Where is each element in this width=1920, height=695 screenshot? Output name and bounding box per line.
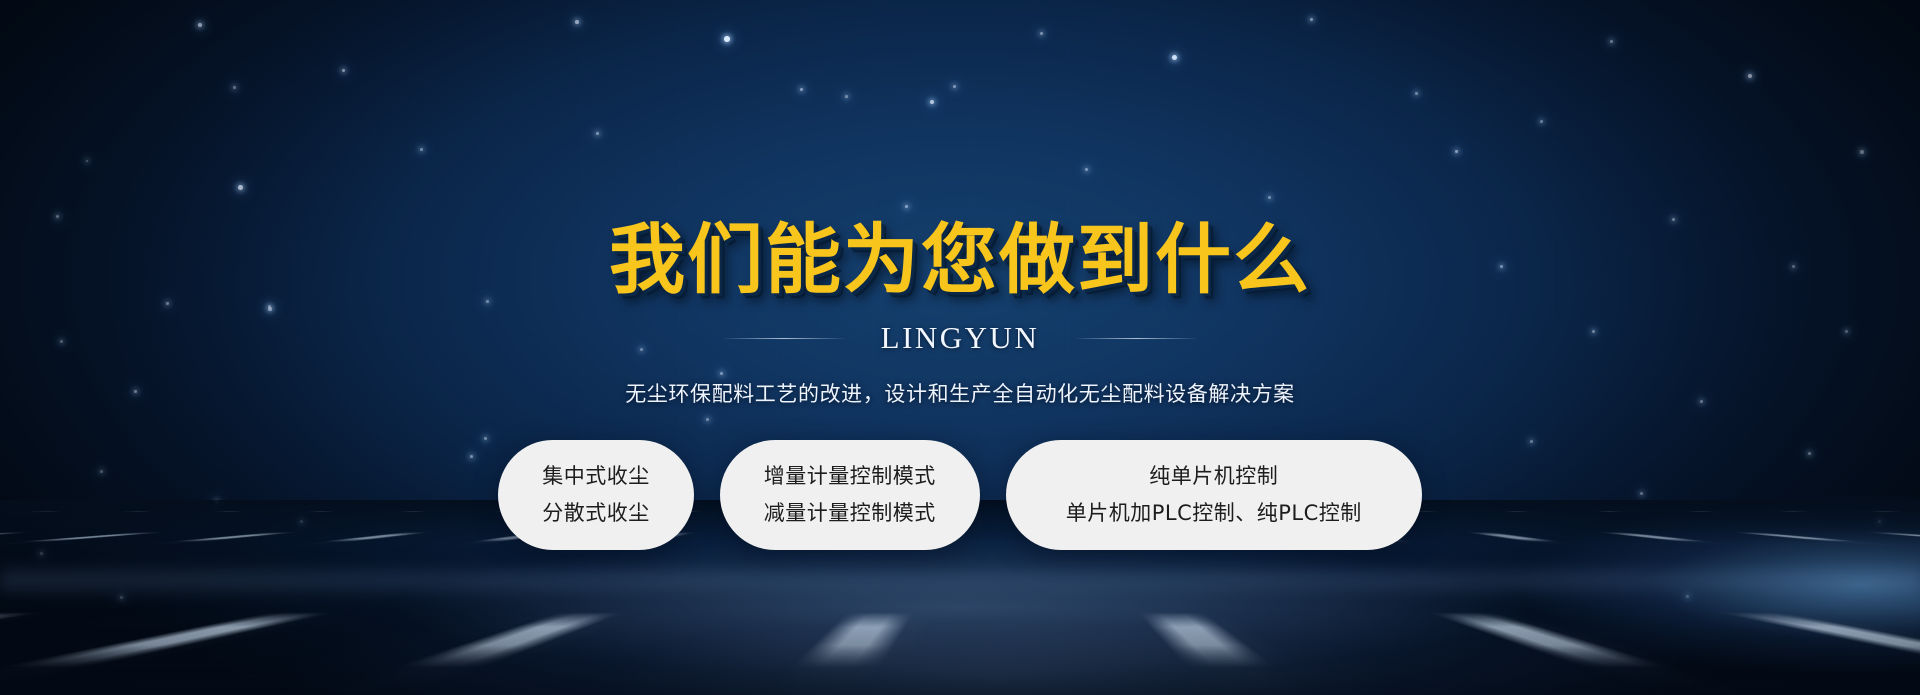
feature-card-line-2: 单片机加PLC控制、纯PLC控制 [1066,503,1362,524]
feature-card-line-2: 减量计量控制模式 [764,503,936,524]
feature-card-line-1: 纯单片机控制 [1149,466,1278,487]
banner-content: 我们能为您做到什么 LINGYUN 无尘环保配料工艺的改进，设计和生产全自动化无… [0,0,1920,695]
brand-subtitle-row: LINGYUN [721,320,1200,356]
brand-name-en: LINGYUN [881,320,1040,356]
divider-line-right [1073,338,1199,339]
feature-card-list: 集中式收尘 分散式收尘 增量计量控制模式 减量计量控制模式 纯单片机控制 单片机… [498,440,1422,550]
feature-card-control-system[interactable]: 纯单片机控制 单片机加PLC控制、纯PLC控制 [1006,440,1422,550]
divider-line-left [721,338,847,339]
page-title: 我们能为您做到什么 [609,222,1311,298]
hero-banner: 我们能为您做到什么 LINGYUN 无尘环保配料工艺的改进，设计和生产全自动化无… [0,0,1920,695]
feature-card-line-1: 集中式收尘 [542,466,650,487]
banner-description: 无尘环保配料工艺的改进，设计和生产全自动化无尘配料设备解决方案 [625,378,1295,408]
feature-card-metering-mode[interactable]: 增量计量控制模式 减量计量控制模式 [720,440,980,550]
feature-card-line-1: 增量计量控制模式 [764,466,936,487]
feature-card-line-2: 分散式收尘 [542,503,650,524]
feature-card-dust-collection[interactable]: 集中式收尘 分散式收尘 [498,440,694,550]
